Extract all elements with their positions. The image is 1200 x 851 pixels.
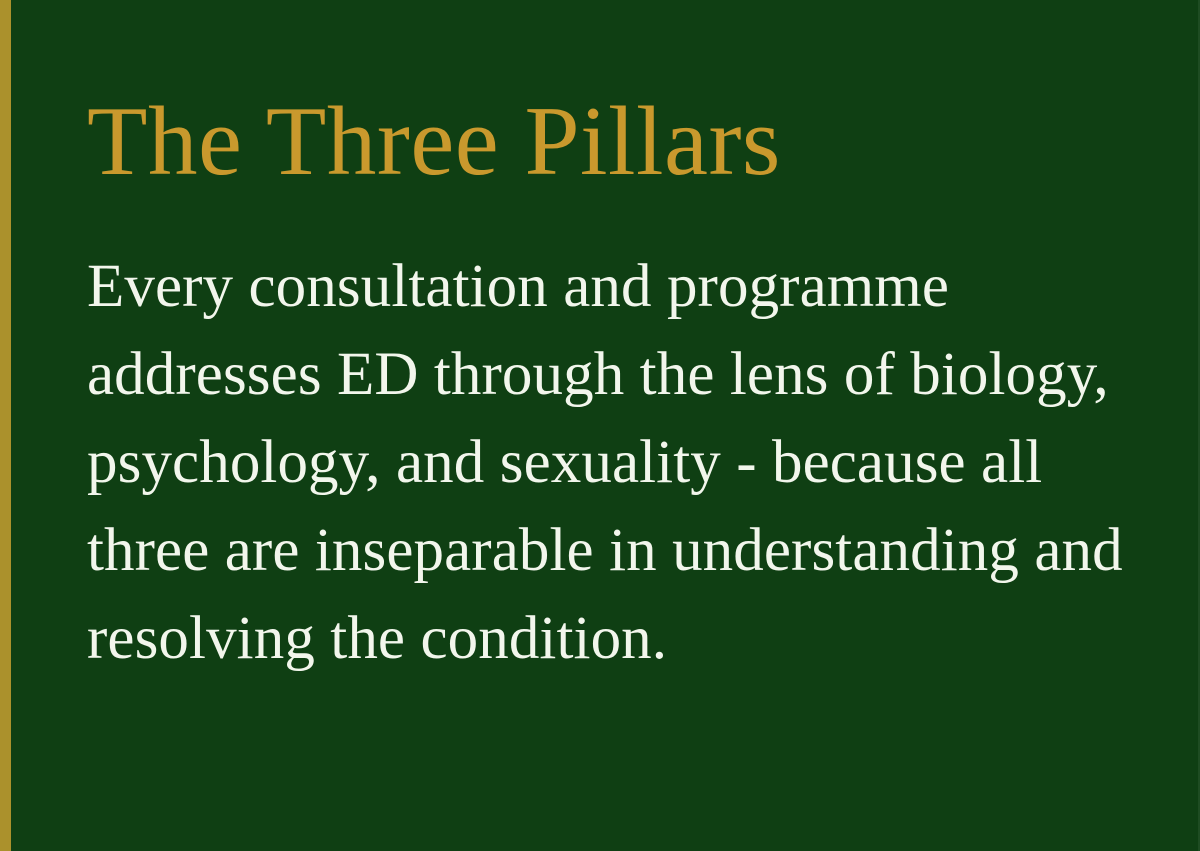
slide-content: The Three Pillars Every consultation and… [87, 0, 1147, 851]
body-line-3: psychology, and sexuality - because all [87, 419, 1142, 507]
body-line-5: resolving the condition. [87, 595, 1142, 683]
left-accent-bar [0, 0, 11, 851]
body-line-4: three are inseparable in understanding a… [87, 507, 1142, 595]
body-line-2: addresses ED through the lens of biology… [87, 331, 1142, 419]
slide-body-text: Every consultation and programme address… [87, 243, 1142, 683]
slide-canvas: The Three Pillars Every consultation and… [0, 0, 1200, 851]
body-line-1: Every consultation and programme [87, 243, 1142, 331]
slide-title: The Three Pillars [87, 92, 781, 191]
